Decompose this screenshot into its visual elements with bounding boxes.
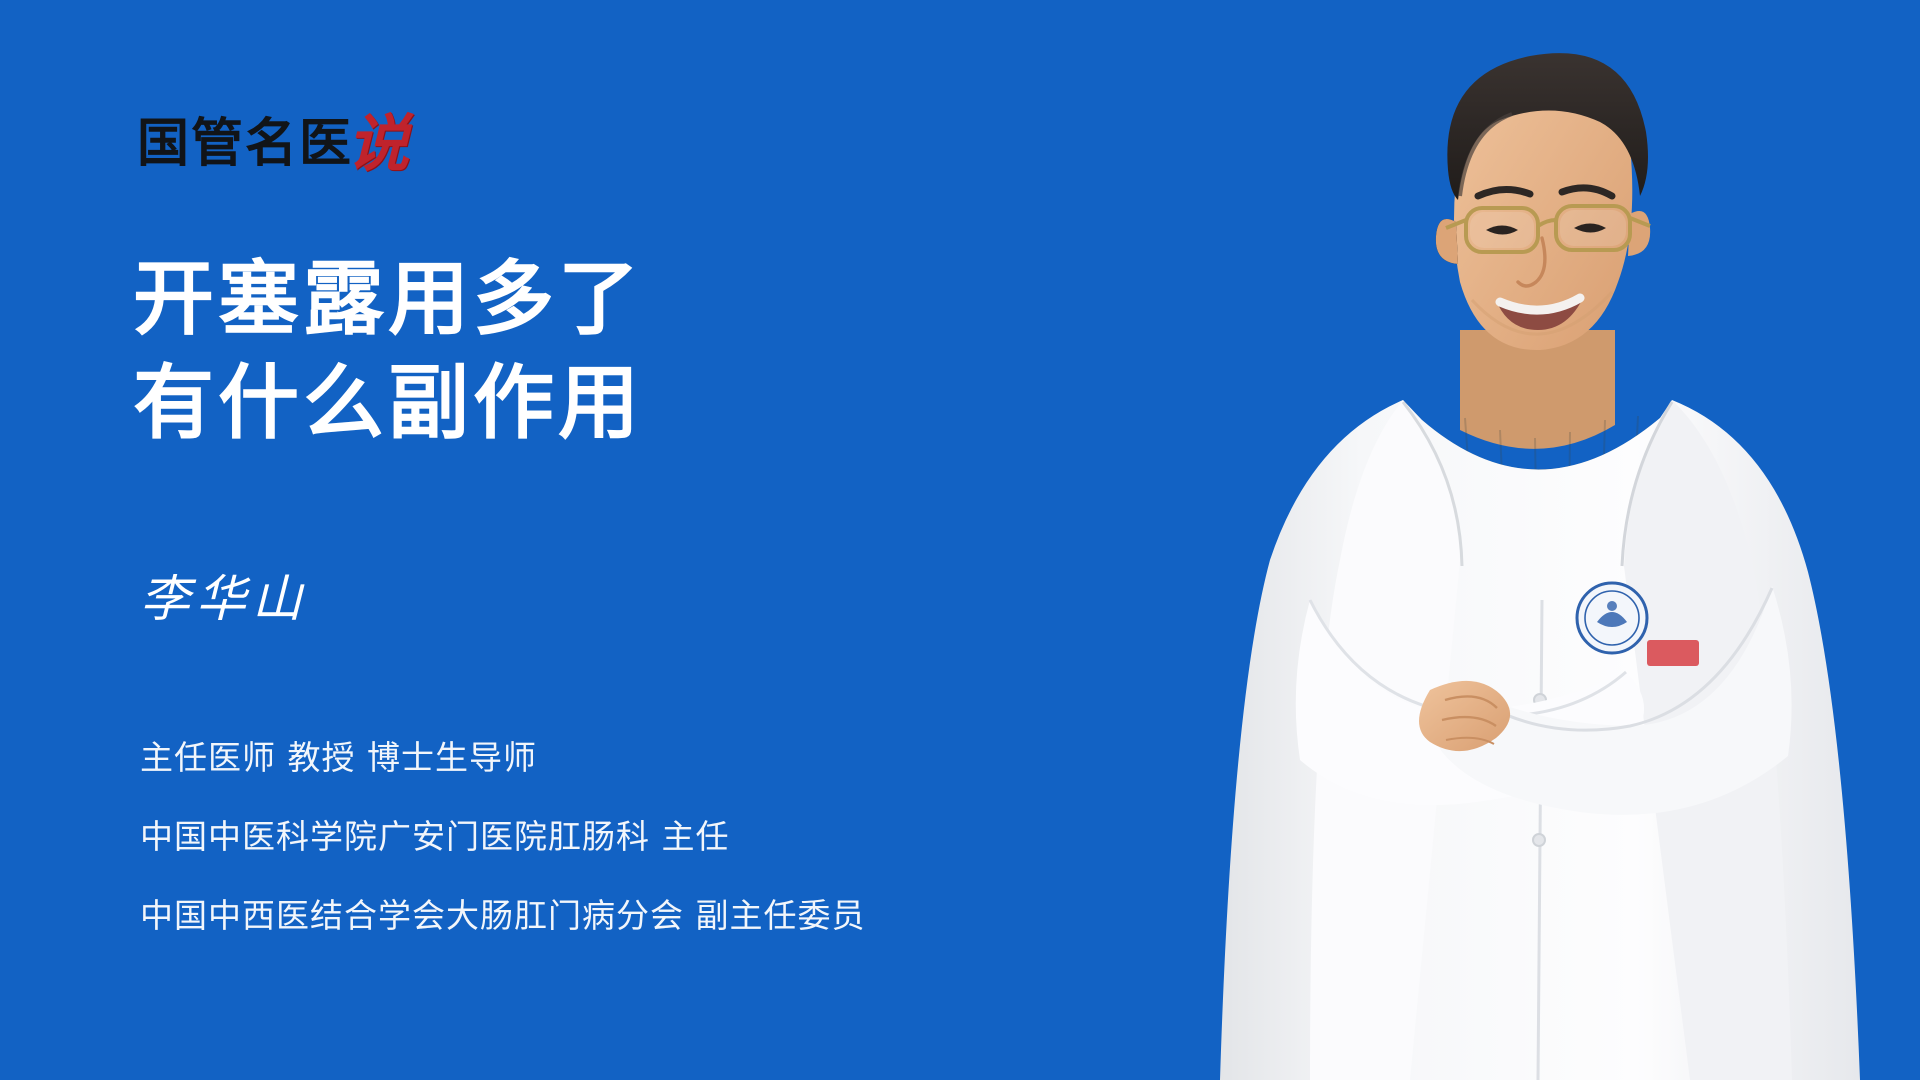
doctor-portrait-illustration: [1160, 0, 1920, 1080]
credential-line-3: 中国中西医结合学会大肠肛门病分会 副主任委员: [140, 876, 866, 955]
brand-logo: 国管名医 说: [137, 118, 409, 170]
headline: 开塞露用多了 有什么副作用: [133, 248, 643, 456]
brand-logo-text: 国管名医: [137, 118, 353, 170]
credential-line-1: 主任医师 教授 博士生导师: [140, 718, 866, 797]
headline-line-1: 开塞露用多了: [133, 248, 643, 352]
doctor-name: 李华山: [140, 570, 308, 628]
headline-line-2: 有什么副作用: [133, 352, 643, 456]
brand-logo-accent-text: 说: [347, 118, 409, 170]
hospital-badge-icon: [1577, 583, 1647, 653]
credential-line-2: 中国中医科学院广安门医院肛肠科 主任: [140, 797, 866, 876]
doctor-portrait: [1160, 0, 1920, 1080]
doctor-credentials: 主任医师 教授 博士生导师 中国中医科学院广安门医院肛肠科 主任 中国中西医结合…: [140, 718, 866, 955]
poster-canvas: 国管名医 说 开塞露用多了 有什么副作用 李华山 主任医师 教授 博士生导师 中…: [0, 0, 1920, 1080]
